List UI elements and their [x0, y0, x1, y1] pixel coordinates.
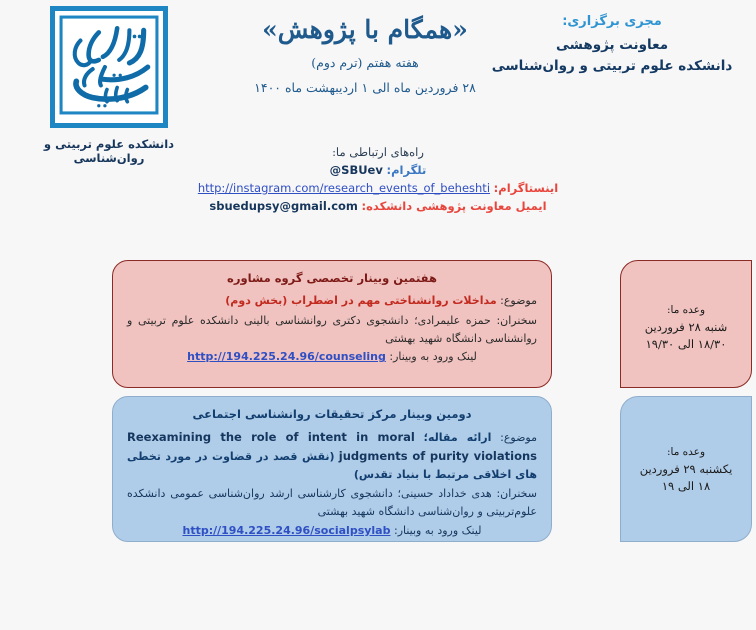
contact-link-instagram[interactable]: http://instagram.com/research_events_of_… [198, 180, 490, 198]
speaker-key-counseling: سخنران: [496, 314, 537, 327]
poster-canvas: دانشکده علوم تربیتی و روان‌شناسی «همگام … [0, 0, 756, 630]
webinar-card-socialpsylab: دومین وبینار مرکز تحقیقات روانشناسی اجتم… [112, 396, 552, 542]
contact-block: راه‌های ارتباطی ما: تلگرام: @SBUev اینست… [0, 145, 756, 215]
webinar-join-link-socialpsylab[interactable]: http://194.225.24.96/socialpsylab [182, 524, 390, 537]
webinar-join-link-counseling[interactable]: http://194.225.24.96/counseling [187, 350, 386, 363]
webinar-row-counseling: هفتمین وبینار تخصصی گروه مشاوره موضوع: م… [0, 260, 756, 390]
organizer-line-2: دانشکده علوم تربیتی و روان‌شناسی [482, 56, 742, 77]
contact-value-telegram: @SBUev [330, 162, 383, 180]
university-logo-block: دانشکده علوم تربیتی و روان‌شناسی [14, 6, 204, 165]
badge-time-counseling: ۱۸/۳۰ الی ۱۹/۳۰ [621, 336, 751, 353]
webinar-topic-socialpsylab: موضوع: ارائه مقاله؛ Reexamining the role… [127, 428, 537, 483]
contact-item-instagram: اینستاگرام: http://instagram.com/researc… [0, 180, 756, 198]
organizer-line-1: معاونت پژوهشی [482, 35, 742, 56]
webinar-link-row-socialpsylab: لینک ورود به وبینار: http://194.225.24.9… [127, 524, 537, 537]
date-range: ۲۸ فروردین ماه الی ۱ اردیبهشت ماه ۱۴۰۰ [215, 80, 515, 95]
speaker-value-counseling: حمزه علیمرادی؛ دانشجوی دکتری روانشناسی ب… [127, 314, 537, 345]
webinar-link-row-counseling: لینک ورود به وبینار: http://194.225.24.9… [127, 350, 537, 363]
contact-label-email: ایمیل معاونت پژوهشی دانشکده: [362, 199, 547, 213]
contact-item-email: ایمیل معاونت پژوهشی دانشکده: sbuedupsy@g… [0, 198, 756, 216]
badge-day-counseling: شنبه ۲۸ فروردین [621, 319, 751, 336]
poster-header: دانشکده علوم تربیتی و روان‌شناسی «همگام … [0, 0, 756, 165]
badge-time-socialpsylab: ۱۸ الی ۱۹ [621, 478, 751, 495]
speaker-value-socialpsylab: هدی خداداد حسینی؛ دانشجوی کارشناسی ارشد … [127, 487, 537, 518]
webinar-title-counseling: هفتمین وبینار تخصصی گروه مشاوره [127, 271, 537, 285]
webinar-row-socialpsylab: دومین وبینار مرکز تحقیقات روانشناسی اجتم… [0, 396, 756, 544]
badge-label-socialpsylab: وعده ما: [621, 445, 751, 461]
organizer-label: مجری برگزاری: [482, 14, 742, 29]
link-key-socialpsylab: لینک ورود به وبینار: [394, 524, 482, 537]
webinar-topic-counseling: موضوع: مداخلات روانشناختی مهم در اضطراب … [127, 292, 537, 310]
sbu-calligraphy-logo-icon [50, 6, 168, 128]
contact-label-telegram: تلگرام: [387, 163, 427, 177]
link-key-counseling: لینک ورود به وبینار: [389, 350, 477, 363]
topic-value-counseling: مداخلات روانشناختی مهم در اضطراب (بخش دو… [225, 294, 496, 307]
topic-key-socialpsylab: موضوع: [500, 431, 537, 444]
contact-value-email: sbuedupsy@gmail.com [209, 198, 357, 216]
week-subtitle: هفته هفتم (ترم دوم) [215, 55, 515, 70]
contact-item-telegram: تلگرام: @SBUev [0, 162, 756, 180]
webinar-title-socialpsylab: دومین وبینار مرکز تحقیقات روانشناسی اجتم… [127, 407, 537, 421]
title-block: «همگام با پژوهش» هفته هفتم (ترم دوم) ۲۸ … [215, 14, 515, 95]
topic-key-counseling: موضوع: [500, 294, 537, 307]
page-title: «همگام با پژوهش» [215, 14, 515, 45]
speaker-key-socialpsylab: سخنران: [496, 487, 537, 500]
topic-value-socialpsylab: ارائه مقاله؛ [424, 431, 492, 444]
webinar-schedule-badge-socialpsylab: وعده ما: یکشنبه ۲۹ فروردین ۱۸ الی ۱۹ [620, 396, 752, 542]
badge-day-socialpsylab: یکشنبه ۲۹ فروردین [621, 461, 751, 478]
organizer-block: مجری برگزاری: معاونت پژوهشی دانشکده علوم… [482, 14, 742, 77]
webinar-schedule-badge-counseling: وعده ما: شنبه ۲۸ فروردین ۱۸/۳۰ الی ۱۹/۳۰ [620, 260, 752, 388]
webinar-speaker-counseling: سخنران: حمزه علیمرادی؛ دانشجوی دکتری روا… [127, 312, 537, 348]
contact-label-instagram: اینستاگرام: [494, 181, 558, 195]
contact-heading: راه‌های ارتباطی ما: [0, 145, 756, 159]
badge-label-counseling: وعده ما: [621, 303, 751, 319]
webinar-card-counseling: هفتمین وبینار تخصصی گروه مشاوره موضوع: م… [112, 260, 552, 388]
webinar-speaker-socialpsylab: سخنران: هدی خداداد حسینی؛ دانشجوی کارشنا… [127, 485, 537, 521]
